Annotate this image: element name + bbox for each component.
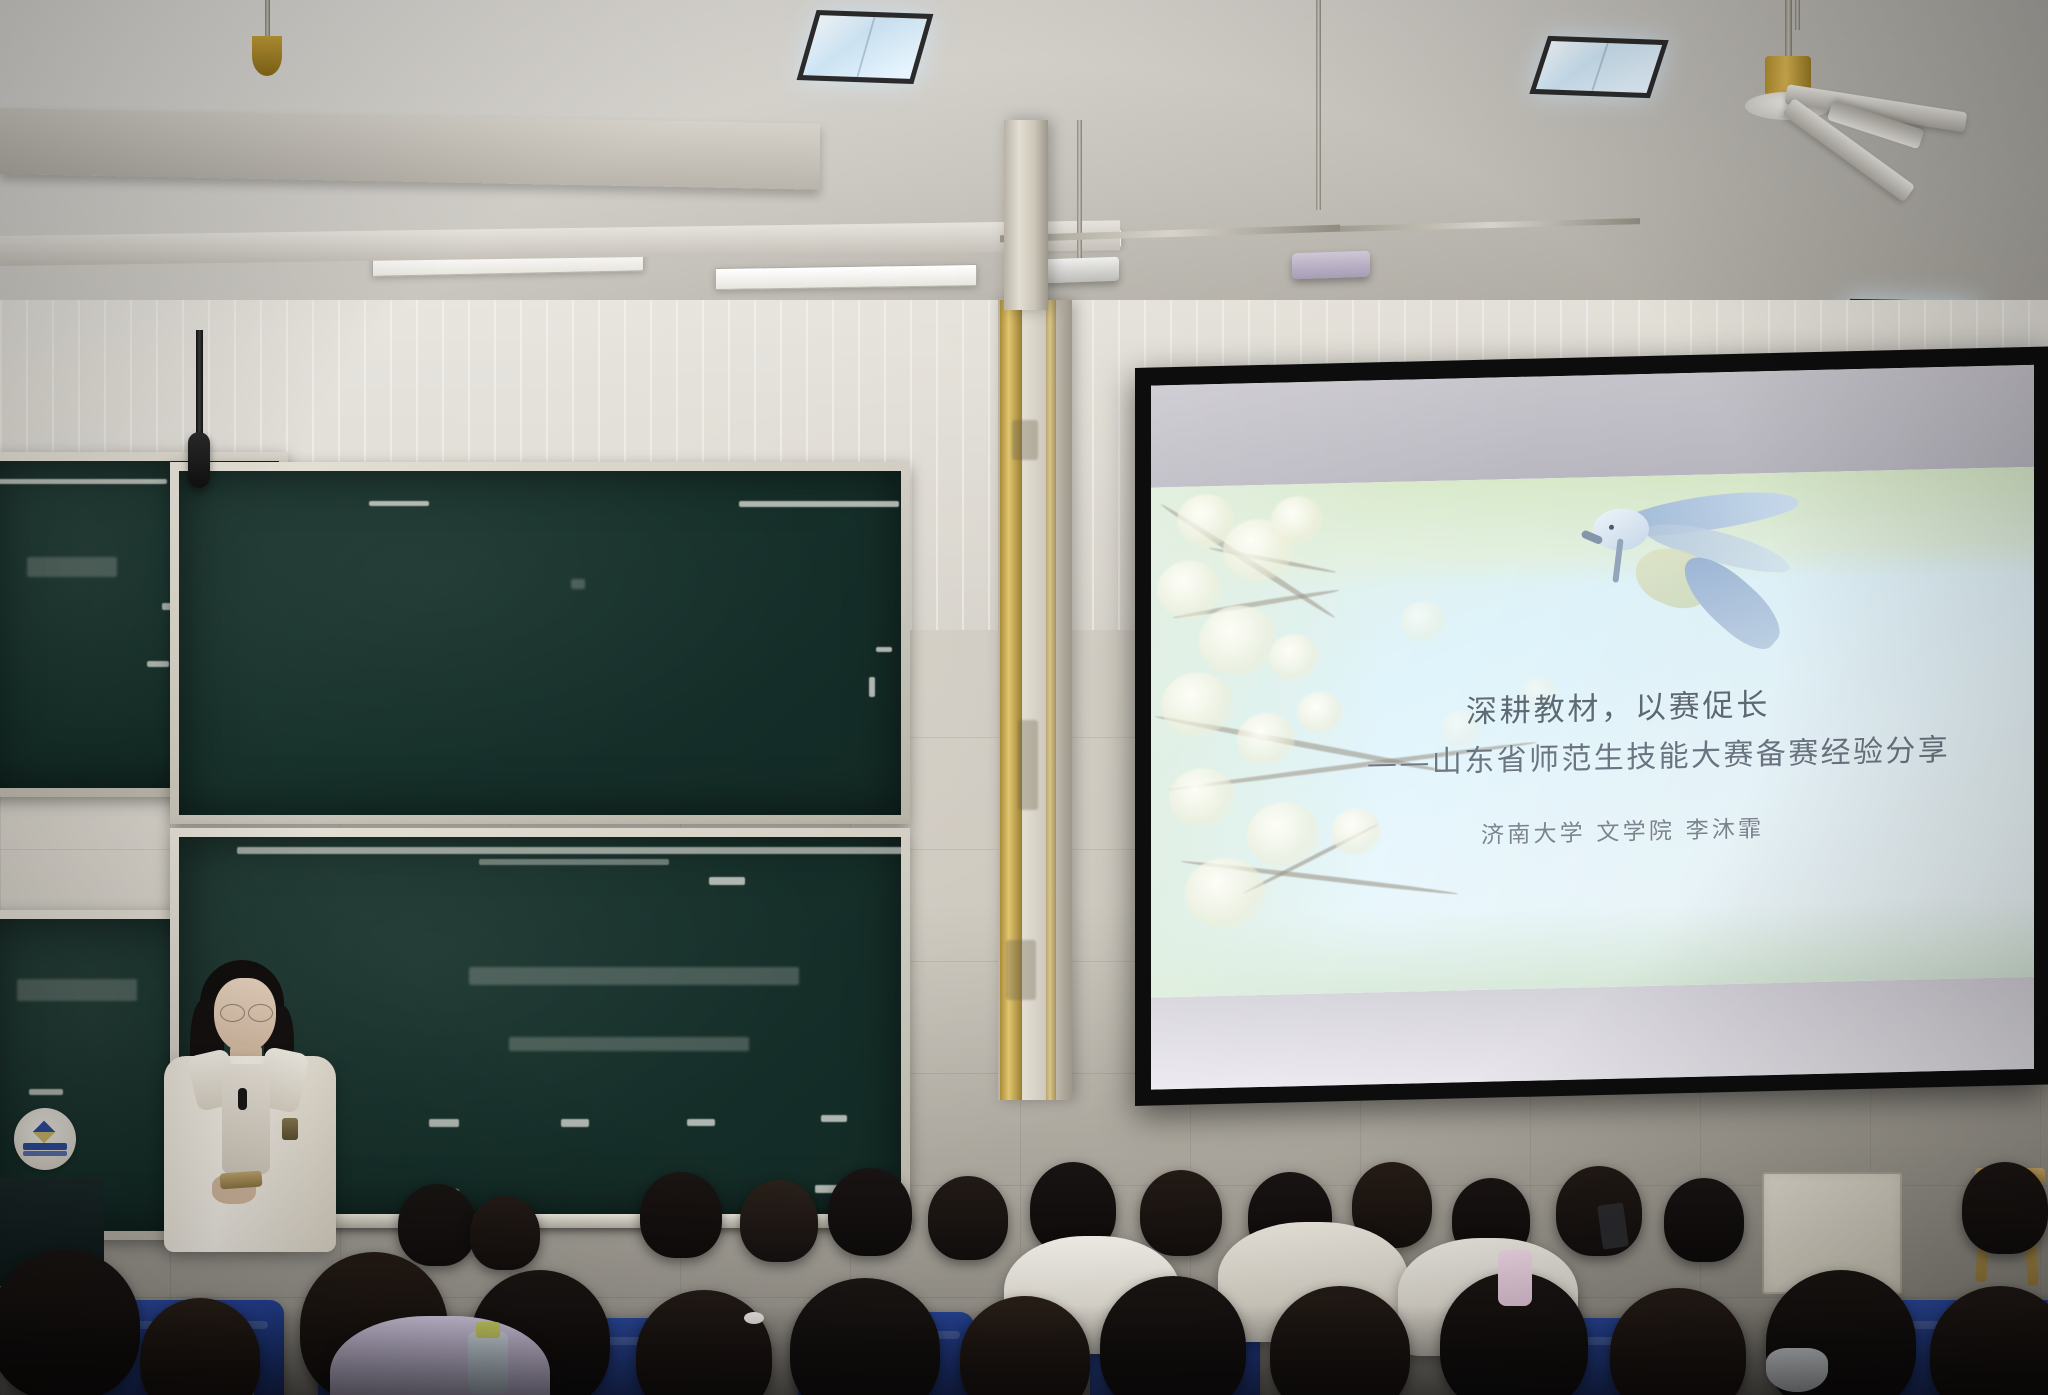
strip-light-icon (715, 264, 977, 290)
slide-title: 深耕教材，以赛促长 (1466, 679, 1770, 731)
audience-head (828, 1168, 912, 1256)
pillar-upper-segment (1004, 120, 1048, 310)
glasses-icon (248, 1004, 273, 1022)
slide-author-line: 济南大学 文学院 李沐霏 (1481, 809, 1764, 850)
panel-light-icon (797, 10, 934, 84)
water-bottle-icon (468, 1332, 508, 1394)
hair-bow-icon (744, 1312, 764, 1324)
panel-light-icon (1529, 36, 1668, 98)
classroom-photo-scene: 深耕教材，以赛促长 ——山东省师范生技能大赛备赛经验分享 济南大学 文学院 李沐… (0, 0, 2048, 1395)
ceiling-fan-icon (1728, 0, 1848, 130)
audience-head (928, 1176, 1008, 1260)
audience-head (1962, 1162, 2048, 1254)
university-emblem-icon (14, 1108, 76, 1170)
pendant-rod (265, 0, 270, 40)
presenter-clicker (219, 1171, 262, 1190)
projection-screen-frame: 深耕教材，以赛促长 ——山东省师范生技能大赛备赛经验分享 济南大学 文学院 李沐… (1135, 346, 2048, 1106)
presentation-slide: 深耕教材，以赛促长 ——山东省师范生技能大赛备赛经验分享 济南大学 文学院 李沐… (1151, 467, 2034, 998)
blackboard-main-upper (170, 462, 910, 824)
audience-head (640, 1172, 722, 1258)
audience-head (1664, 1178, 1744, 1262)
projection-screen-surface: 深耕教材，以赛促长 ——山东省师范生技能大赛备赛经验分享 济南大学 文学院 李沐… (1151, 365, 2034, 1090)
projector-hanger-rod (1316, 0, 1321, 210)
audience-head (470, 1196, 540, 1270)
projector-icon (1292, 251, 1370, 280)
audience-head (740, 1180, 818, 1262)
bottle-cap (476, 1322, 500, 1338)
presenter-inner-top (222, 1064, 270, 1174)
clip-microphone-icon (238, 1088, 247, 1110)
pendant-lamp-icon (252, 36, 282, 76)
audience-head (398, 1184, 476, 1266)
blossom-flower (1401, 601, 1445, 642)
jacket-logo (282, 1118, 298, 1140)
audience-head (1140, 1170, 1222, 1256)
microphone-icon (188, 432, 210, 488)
water-bottle-icon (1498, 1250, 1532, 1306)
projector-icon (1045, 257, 1119, 284)
structural-pillar (998, 300, 1072, 1100)
pendant-rod (1795, 0, 1800, 30)
bird-illustration-icon (1523, 484, 1823, 671)
microphone-cable (196, 330, 203, 440)
presenter-figure (160, 960, 380, 1260)
glasses-icon (220, 1004, 245, 1022)
face-mask-icon (1766, 1348, 1828, 1392)
